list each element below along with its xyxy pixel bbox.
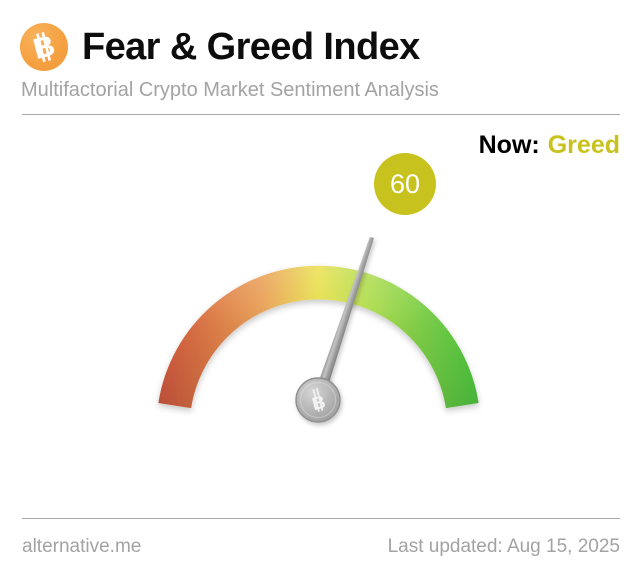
gauge-value-badge: 60 [374, 153, 436, 215]
page-subtitle: Multifactorial Crypto Market Sentiment A… [21, 79, 439, 102]
gauge-needle [314, 235, 376, 398]
header-divider [22, 114, 620, 115]
last-updated-label: Last updated: Aug 15, 2025 [388, 536, 620, 558]
bitcoin-icon: B [20, 23, 68, 71]
footer-divider [22, 518, 620, 519]
source-label[interactable]: alternative.me [22, 536, 141, 558]
brand-row: B Fear & Greed Index [20, 18, 420, 76]
page-title: Fear & Greed Index [82, 28, 420, 66]
gauge-chart: B 60 [0, 120, 640, 510]
gauge-svg: B [0, 120, 640, 510]
page-footer: alternative.me Last updated: Aug 15, 202… [0, 520, 640, 575]
page-header: B Fear & Greed Index Multifactorial Cryp… [0, 0, 640, 112]
gauge-hub: B [296, 378, 340, 422]
gauge-value-text: 60 [390, 171, 420, 198]
